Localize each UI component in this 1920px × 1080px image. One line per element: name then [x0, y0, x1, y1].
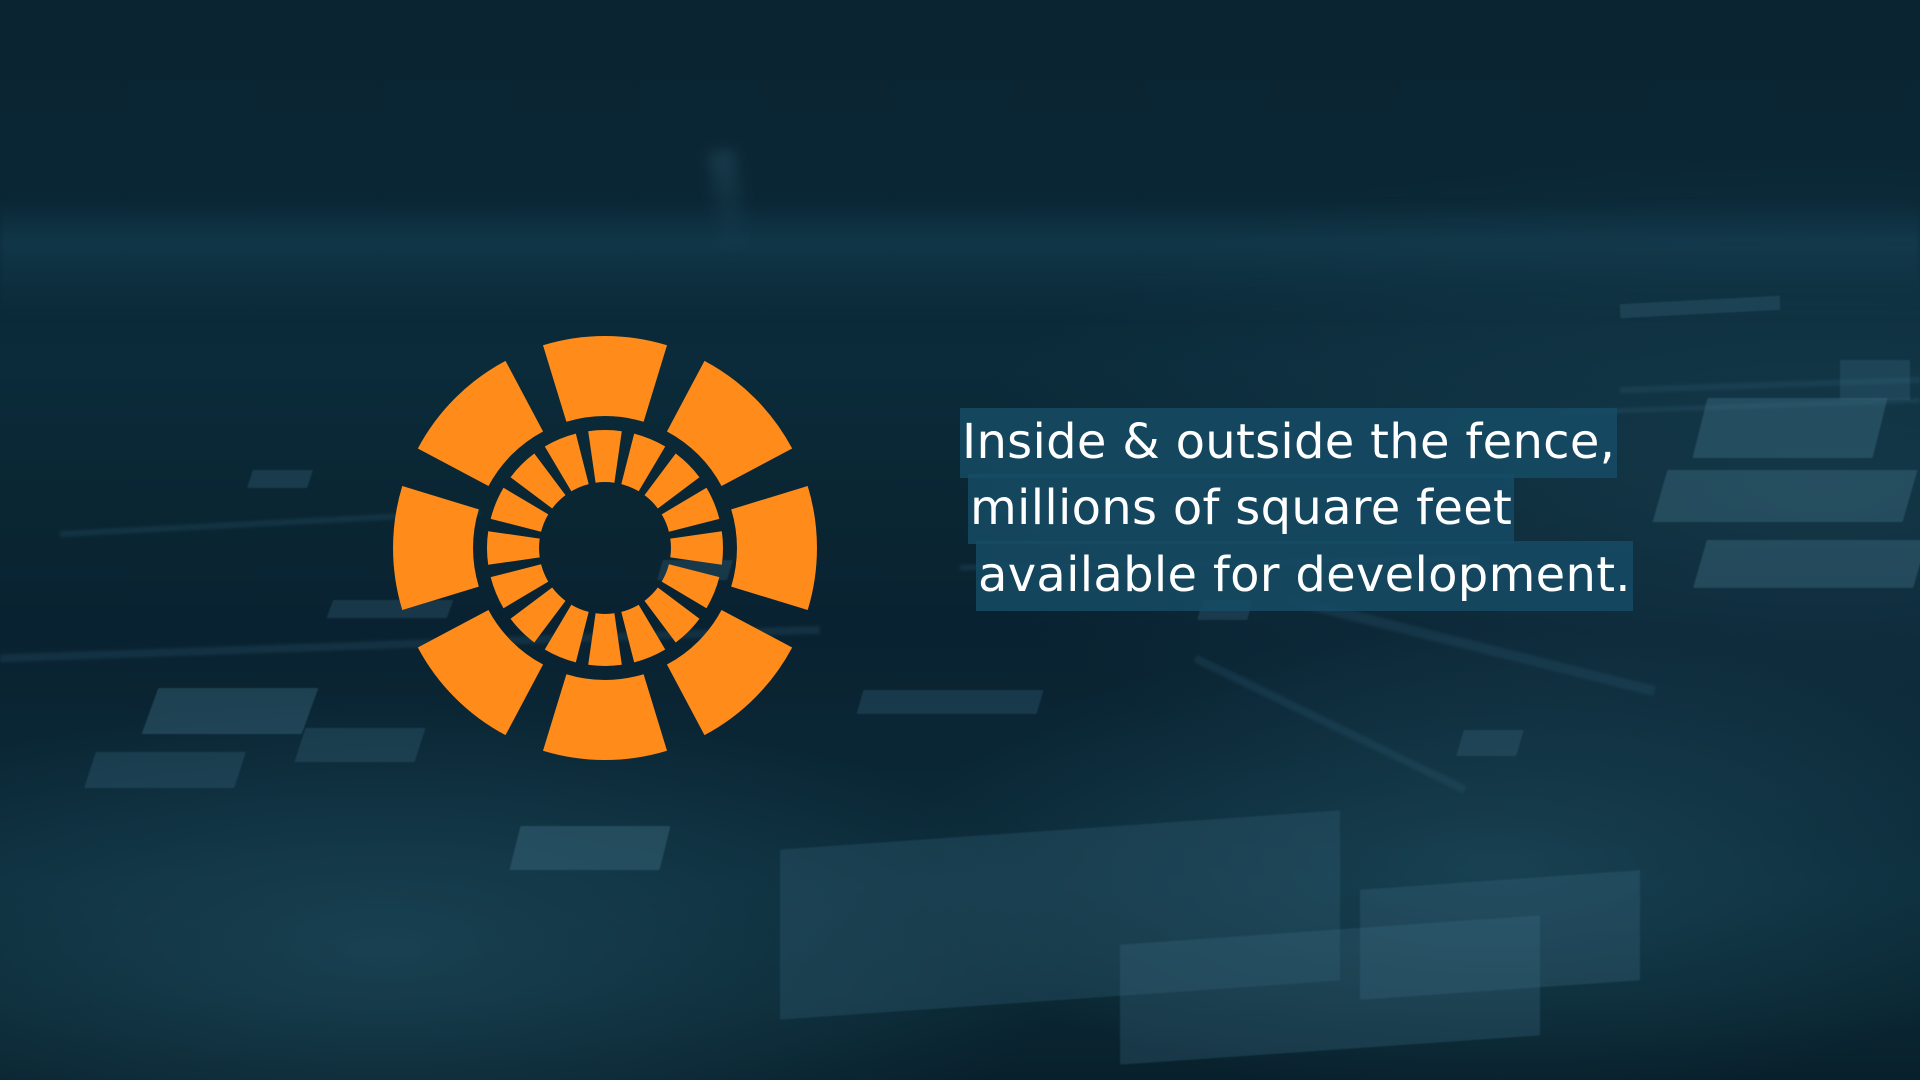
headline-line-3-text: available for development. — [976, 541, 1633, 611]
headline-line-2-text: millions of square feet — [968, 474, 1514, 544]
headline-line-2: millions of square feet — [960, 478, 1820, 538]
headline-block: Inside & outside the fence, millions of … — [960, 412, 1820, 611]
headline-line-3: available for development. — [960, 545, 1820, 605]
headline-line-1: Inside & outside the fence, — [960, 412, 1820, 472]
logo-outer-ring — [393, 336, 817, 760]
sunburst-logo — [355, 280, 855, 800]
logo-inner-ring — [487, 430, 723, 666]
slide-canvas: Inside & outside the fence, millions of … — [0, 0, 1920, 1080]
headline-line-1-text: Inside & outside the fence, — [960, 408, 1617, 478]
